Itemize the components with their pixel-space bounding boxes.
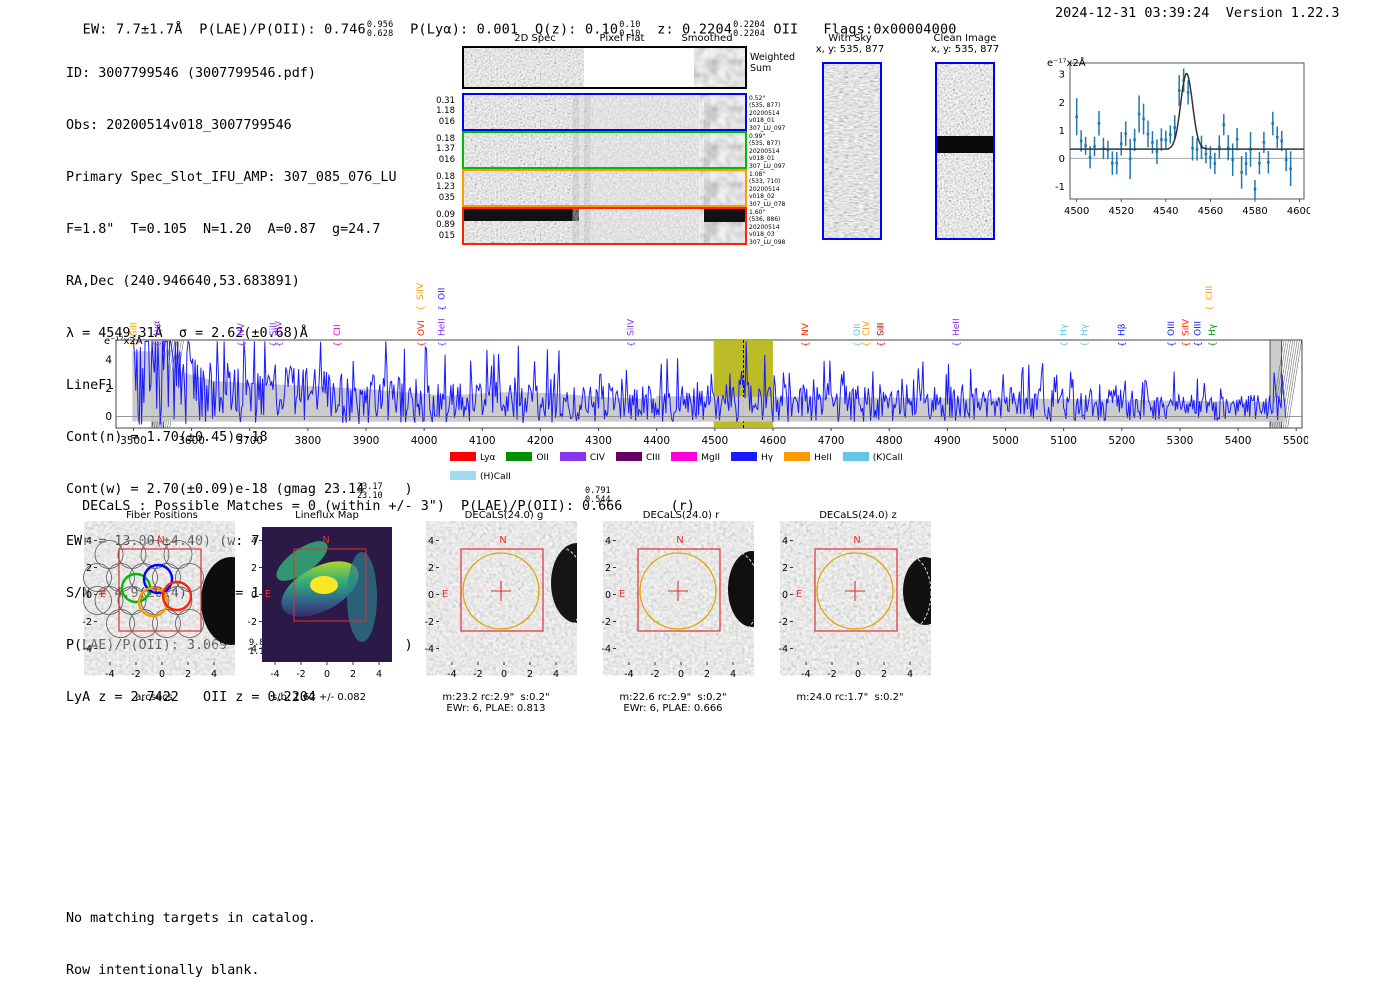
svg-text:-2: -2 xyxy=(425,617,434,628)
svg-text:HeII: HeII xyxy=(952,318,962,336)
legend-item: CIV xyxy=(560,452,605,463)
legend-swatch xyxy=(616,452,642,461)
svg-text:SiII: SiII xyxy=(876,322,886,336)
footer-note: No matching targets in catalog. Row inte… xyxy=(66,875,316,997)
svg-text:CIII: CIII xyxy=(1205,286,1215,300)
svg-text:Hγ: Hγ xyxy=(1060,323,1070,336)
svg-text:0: 0 xyxy=(159,669,165,680)
cutout-title-cleanimage: Clean Image x, y: 535, 877 xyxy=(915,33,1015,55)
panel-xlabel: m:23.2 rc:2.9" s:0.2" xyxy=(415,692,577,703)
svg-text:4: 4 xyxy=(376,669,382,680)
fiber-row[interactable] xyxy=(462,169,747,207)
svg-text:2: 2 xyxy=(881,669,887,680)
panel-xlabel: m:22.6 rc:2.9" s:0.2" xyxy=(592,692,754,703)
svg-text:4100: 4100 xyxy=(469,435,496,447)
svg-text:4300: 4300 xyxy=(585,435,612,447)
svg-text:OIII: OIII xyxy=(1167,321,1177,336)
spectrum-legend: LyαOIICIVCIIIMgIIHγHeII(K)CaII(H)CaII xyxy=(450,447,970,485)
legend-swatch xyxy=(450,471,476,480)
legend-swatch xyxy=(843,452,869,461)
svg-text:Hβ: Hβ xyxy=(1118,323,1128,336)
svg-text:4800: 4800 xyxy=(876,435,903,447)
info-line-2: Primary Spec_Slot_IFU_AMP: 307_085_076_L… xyxy=(66,169,413,186)
svg-text:-4: -4 xyxy=(270,669,279,680)
fiber-left-label: 0.31 1.18 016 xyxy=(425,96,455,127)
svg-text:2: 2 xyxy=(1059,98,1065,109)
svg-text:{: { xyxy=(953,341,963,347)
legend-swatch xyxy=(450,452,476,461)
panel-xlabel: arcsecs xyxy=(73,692,235,703)
fiber-row[interactable] xyxy=(462,207,747,245)
svg-text:-2: -2 xyxy=(83,617,92,628)
svg-text:-2: -2 xyxy=(131,669,140,680)
svg-text:4: 4 xyxy=(211,669,217,680)
fiber-right-label: 0.52" (535, 877) 20200514 v018_01 307_LU… xyxy=(749,95,785,132)
svg-text:4200: 4200 xyxy=(527,435,554,447)
legend-label: CIII xyxy=(646,453,660,463)
svg-text:N: N xyxy=(853,535,860,546)
svg-text:OII: OII xyxy=(438,288,448,300)
svg-text:4500: 4500 xyxy=(1064,206,1089,217)
legend-item: Hγ xyxy=(731,452,773,463)
svg-text:3600: 3600 xyxy=(178,435,205,447)
svg-text:{: { xyxy=(877,341,887,347)
legend-label: CIV xyxy=(590,453,605,463)
svg-text:-4: -4 xyxy=(624,669,633,680)
svg-text:{: { xyxy=(153,341,163,347)
svg-text:4520: 4520 xyxy=(1109,206,1134,217)
svg-text:0: 0 xyxy=(1059,154,1065,165)
legend-label: (H)CaII xyxy=(480,472,511,482)
svg-text:NV: NV xyxy=(801,322,811,336)
svg-text:-1: -1 xyxy=(1055,182,1065,193)
fiber-right-label: 1.60" (536, 886) 20200514 v018_03 307_LU… xyxy=(749,209,785,246)
info-line-0: ID: 3007799546 (3007799546.pdf) xyxy=(66,65,413,82)
legend-label: Lyα xyxy=(480,453,495,463)
fiber-rows-container xyxy=(462,93,747,245)
svg-text:OIII: OIII xyxy=(1193,321,1203,336)
spec2d-col-title-pixelflat: Pixel Flat xyxy=(587,33,657,44)
svg-text:{: { xyxy=(417,305,427,311)
decals-panel: DECaLS(24.0) rNE-4-2024-4-2024m:22.6 rc:… xyxy=(592,510,752,714)
weighted-sum-label: Weighted Sum xyxy=(750,52,795,74)
svg-text:-4: -4 xyxy=(248,644,257,655)
svg-text:2: 2 xyxy=(704,669,710,680)
svg-text:{: { xyxy=(862,341,872,347)
legend-item: HeII xyxy=(784,452,832,463)
fiber-left-label: 0.09 0.89 015 xyxy=(425,210,455,241)
svg-text:2: 2 xyxy=(185,669,191,680)
svg-text:4600: 4600 xyxy=(1287,206,1310,217)
legend-swatch xyxy=(506,452,532,461)
svg-text:E: E xyxy=(100,589,106,600)
fiber-left-label: 0.18 1.23 035 xyxy=(425,172,455,203)
header-ztype: OII xyxy=(773,22,798,38)
legend-item: Lyα xyxy=(450,452,495,463)
svg-text:4900: 4900 xyxy=(934,435,961,447)
svg-text:-4: -4 xyxy=(779,644,788,655)
footer-line-2: Row intentionally blank. xyxy=(66,962,316,979)
panel-title: Fiber Positions xyxy=(97,510,227,521)
cutout-clean-image[interactable] xyxy=(935,62,995,240)
svg-text:-4: -4 xyxy=(83,644,92,655)
svg-text:E: E xyxy=(619,589,625,600)
panel-title: DECaLS(24.0) g xyxy=(439,510,569,521)
cutout-title-withsky: With Sky x, y: 535, 877 xyxy=(805,33,895,55)
svg-text:Hγ: Hγ xyxy=(1208,323,1218,336)
svg-text:CIV: CIV xyxy=(862,320,872,336)
svg-text:-4: -4 xyxy=(801,669,810,680)
svg-text:5200: 5200 xyxy=(1108,435,1135,447)
svg-text:-2: -2 xyxy=(827,669,836,680)
svg-text:{: { xyxy=(801,341,811,347)
svg-text:0: 0 xyxy=(678,669,684,680)
svg-text:3900: 3900 xyxy=(353,435,380,447)
svg-text:-2: -2 xyxy=(602,617,611,628)
info-line-3: F=1.8" T=0.105 N=1.20 A=0.87 g=24.7 xyxy=(66,221,413,238)
weighted-sum-row xyxy=(462,46,747,89)
panel-title: Lineflux Map xyxy=(262,510,392,521)
svg-text:{: { xyxy=(418,341,428,347)
svg-text:4: 4 xyxy=(907,669,913,680)
svg-text:{: { xyxy=(438,305,448,311)
version-label: Version 1.22.3 xyxy=(1226,5,1340,21)
timestamp: 2024-12-31 03:39:24 xyxy=(1055,5,1209,21)
svg-text:Lyα: Lyα xyxy=(153,320,163,336)
svg-text:0: 0 xyxy=(605,590,611,601)
svg-text:{: { xyxy=(237,341,247,347)
fiber-right-label: 0.99" (535, 877) 20200514 v018_01 307_LU… xyxy=(749,133,785,170)
legend-swatch xyxy=(784,452,810,461)
svg-text:4580: 4580 xyxy=(1242,206,1267,217)
fit-plot-units: e⁻¹⁷x2Å xyxy=(1047,58,1086,69)
svg-text:5400: 5400 xyxy=(1225,435,1252,447)
decals-panel: DECaLS(24.0) zNE-4-2024-4-2024m:24.0 rc:… xyxy=(769,510,929,703)
svg-text:4: 4 xyxy=(553,669,559,680)
svg-text:1: 1 xyxy=(1059,126,1065,137)
svg-text:OVI: OVI xyxy=(417,320,427,336)
panel-xlabel: m:24.0 rc:1.7" s:0.2" xyxy=(769,692,931,703)
legend-item: (K)CaII xyxy=(843,452,903,463)
svg-text:5500: 5500 xyxy=(1283,435,1308,447)
svg-text:4700: 4700 xyxy=(818,435,845,447)
svg-text:CII: CII xyxy=(333,324,343,336)
svg-text:0: 0 xyxy=(428,590,434,601)
svg-text:5000: 5000 xyxy=(992,435,1019,447)
svg-text:2: 2 xyxy=(251,563,257,574)
svg-text:0: 0 xyxy=(855,669,861,680)
svg-text:SiIV: SiIV xyxy=(416,282,426,300)
svg-text:{: { xyxy=(1205,305,1215,311)
svg-text:4: 4 xyxy=(730,669,736,680)
svg-text:2: 2 xyxy=(428,563,434,574)
svg-text:{: { xyxy=(1168,341,1178,347)
svg-text:E: E xyxy=(442,589,448,600)
svg-text:-2: -2 xyxy=(248,617,257,628)
svg-text:4: 4 xyxy=(86,536,92,547)
legend-label: HeII xyxy=(814,453,832,463)
svg-text:{: { xyxy=(1060,341,1070,347)
fiber-row[interactable] xyxy=(462,93,747,131)
svg-text:4400: 4400 xyxy=(643,435,670,447)
svg-text:0: 0 xyxy=(782,590,788,601)
svg-text:{: { xyxy=(333,341,343,347)
svg-text:N: N xyxy=(676,535,683,546)
header-plya: P(Lyα): 0.001 xyxy=(410,22,518,38)
info-line-1: Obs: 20200514v018_3007799546 xyxy=(66,117,413,134)
svg-text:2: 2 xyxy=(605,563,611,574)
svg-text:-4: -4 xyxy=(447,669,456,680)
svg-text:4500: 4500 xyxy=(701,435,728,447)
svg-text:SiIV: SiIV xyxy=(1182,318,1192,336)
svg-text:2: 2 xyxy=(350,669,356,680)
svg-text:{: { xyxy=(627,341,637,347)
svg-text:-2: -2 xyxy=(473,669,482,680)
svg-text:5100: 5100 xyxy=(1050,435,1077,447)
svg-text:0: 0 xyxy=(105,411,112,423)
decals-panel: Lineflux MapNE-4-2024-4-2024s/b: 1.62 +/… xyxy=(238,510,398,703)
svg-text:4600: 4600 xyxy=(760,435,787,447)
svg-text:4000: 4000 xyxy=(411,435,438,447)
full-spectrum-plot[interactable]: 0243500360037003800390040004100420043004… xyxy=(98,278,1308,468)
line-fit-plot[interactable]: -10123450045204540456045804600 xyxy=(1040,55,1310,225)
svg-text:HeII: HeII xyxy=(438,318,448,336)
panel-caption2: EWr: 6, PLAE: 0.666 xyxy=(592,703,754,714)
svg-text:3800: 3800 xyxy=(294,435,321,447)
svg-text:4: 4 xyxy=(105,354,112,366)
legend-swatch xyxy=(731,452,757,461)
svg-text:0: 0 xyxy=(86,590,92,601)
svg-text:3500: 3500 xyxy=(120,435,147,447)
fiber-left-label: 0.18 1.37 016 xyxy=(425,134,455,165)
spectrum-units: e⁻¹⁷x2Å xyxy=(104,336,143,347)
svg-text:-2: -2 xyxy=(779,617,788,628)
footer-line-1: No matching targets in catalog. xyxy=(66,910,316,927)
spec2d-col-title-smoothed: Smoothed xyxy=(672,33,742,44)
svg-text:N: N xyxy=(322,535,329,546)
legend-label: Hγ xyxy=(761,453,773,463)
svg-text:0: 0 xyxy=(251,590,257,601)
svg-text:{: { xyxy=(438,341,448,347)
svg-text:{: { xyxy=(1194,341,1204,347)
fiber-right-label: 1.08" (533, 710) 20200514 v018_02 307_LU… xyxy=(749,171,785,208)
svg-text:3: 3 xyxy=(1059,70,1065,81)
decals-panel: DECaLS(24.0) gNE-4-2024-4-2024m:23.2 rc:… xyxy=(415,510,575,714)
svg-text:-4: -4 xyxy=(602,644,611,655)
legend-swatch xyxy=(560,452,586,461)
svg-text:0: 0 xyxy=(324,669,330,680)
panel-xlabel: s/b: 1.62 +/- 0.082 xyxy=(238,692,400,703)
svg-text:NV: NV xyxy=(237,322,247,336)
svg-text:4: 4 xyxy=(428,536,434,547)
weighted-sum-image xyxy=(464,48,745,87)
legend-item: OII xyxy=(506,452,548,463)
svg-text:-2: -2 xyxy=(296,669,305,680)
legend-swatch xyxy=(671,452,697,461)
legend-label: MgII xyxy=(701,453,720,463)
svg-text:-2: -2 xyxy=(650,669,659,680)
svg-text:0: 0 xyxy=(501,669,507,680)
svg-text:{: { xyxy=(1182,341,1192,347)
legend-item: (H)CaII xyxy=(450,471,511,482)
panel-title: DECaLS(24.0) r xyxy=(616,510,746,521)
header-timestamp-version: 2024-12-31 03:39:24 Version 1.22.3 xyxy=(1055,5,1340,21)
svg-text:5300: 5300 xyxy=(1167,435,1194,447)
svg-text:4: 4 xyxy=(782,536,788,547)
svg-text:4560: 4560 xyxy=(1198,206,1223,217)
legend-label: OII xyxy=(536,453,548,463)
svg-text:E: E xyxy=(265,589,271,600)
svg-text:Hγ: Hγ xyxy=(1080,323,1090,336)
decals-panel: Fiber PositionsNE-4-2024-4-2024arcsecs xyxy=(73,510,233,703)
legend-label: (K)CaII xyxy=(873,453,903,463)
svg-text:SiII: SiII xyxy=(129,322,139,336)
legend-item: CIII xyxy=(616,452,660,463)
svg-text:{: { xyxy=(1118,341,1128,347)
svg-text:4: 4 xyxy=(251,536,257,547)
decals-panels: Fiber PositionsNE-4-2024-4-2024arcsecsLi… xyxy=(60,510,1060,735)
svg-text:-4: -4 xyxy=(425,644,434,655)
svg-text:N: N xyxy=(157,535,164,546)
fiber-row[interactable] xyxy=(462,131,747,169)
spec2d-col-title-2dspec: 2D Spec xyxy=(505,33,565,44)
svg-text:{: { xyxy=(1208,341,1218,347)
svg-text:3700: 3700 xyxy=(236,435,263,447)
svg-text:-4: -4 xyxy=(105,669,114,680)
panel-caption2: EWr: 6, PLAE: 0.813 xyxy=(415,703,577,714)
svg-text:2: 2 xyxy=(86,563,92,574)
svg-text:E: E xyxy=(796,589,802,600)
svg-text:2: 2 xyxy=(782,563,788,574)
svg-text:{: { xyxy=(1080,341,1090,347)
svg-text:4540: 4540 xyxy=(1153,206,1178,217)
svg-text:2: 2 xyxy=(527,669,533,680)
panel-title: DECaLS(24.0) z xyxy=(793,510,923,521)
svg-text:2: 2 xyxy=(105,383,112,395)
legend-item: MgII xyxy=(671,452,720,463)
svg-text:4: 4 xyxy=(605,536,611,547)
cutout-with-sky[interactable] xyxy=(822,62,882,240)
svg-text:SiIV: SiIV xyxy=(626,318,636,336)
svg-text:{: { xyxy=(275,341,285,347)
svg-text:CIV: CIV xyxy=(275,320,285,336)
decals-plae-frac: 0.7910.544 xyxy=(585,487,611,504)
svg-text:N: N xyxy=(499,535,506,546)
